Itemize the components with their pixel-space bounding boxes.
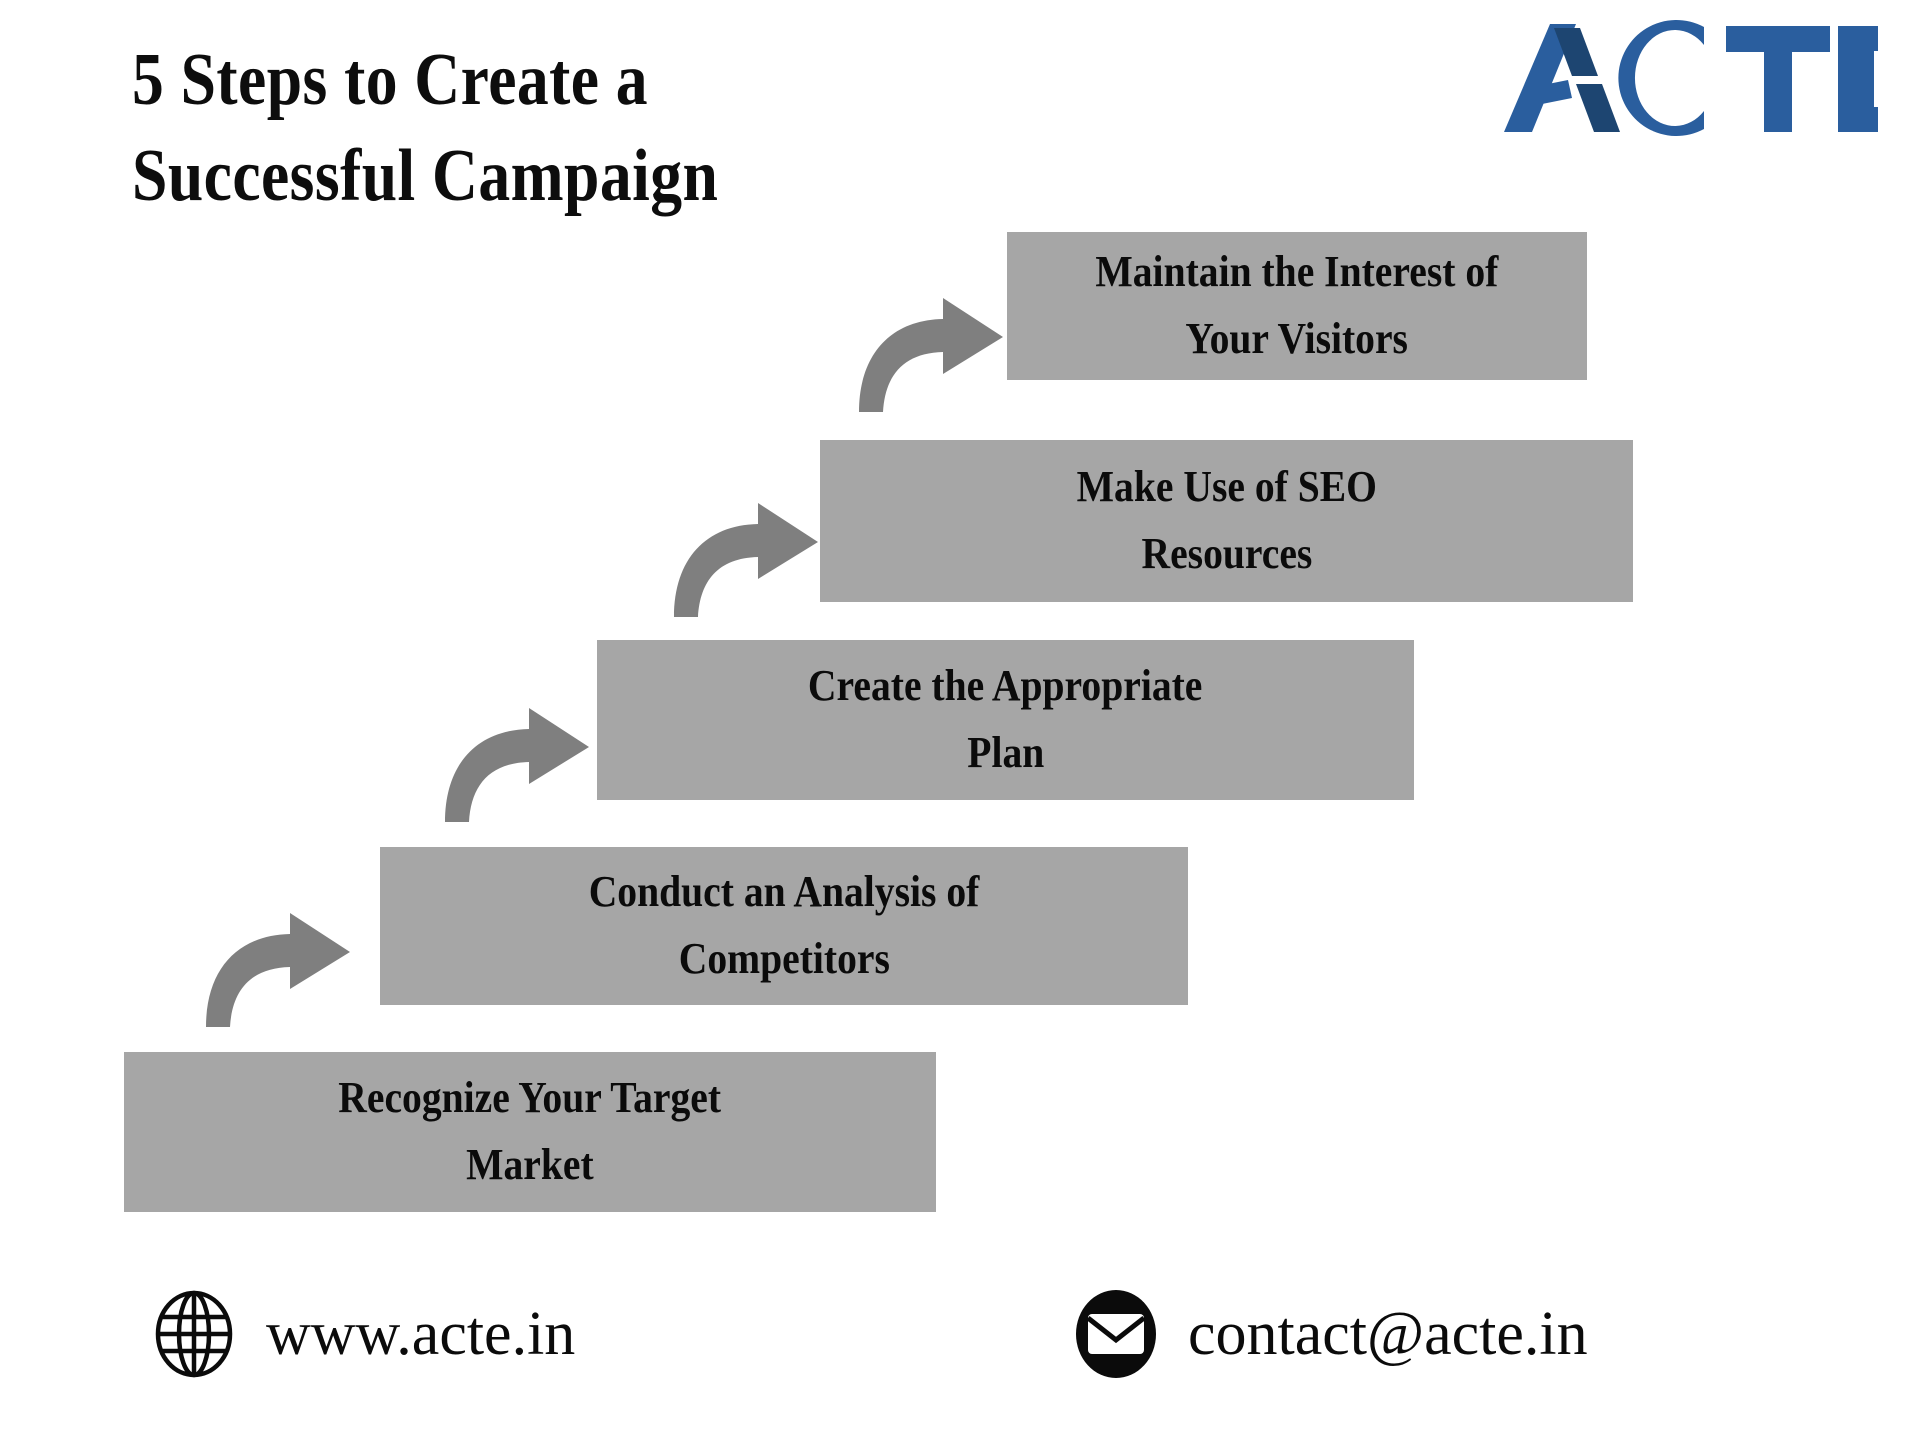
step-3-line-2: Plan: [967, 720, 1044, 787]
step-2-line-1: Conduct an Analysis of: [589, 859, 980, 926]
step-box-4: Make Use of SEO Resources: [820, 440, 1633, 602]
step-5-line-2: Your Visitors: [1186, 306, 1409, 373]
acte-logo: [1498, 14, 1878, 144]
curved-arrow-up-right-icon: [198, 905, 358, 1030]
step-2-line-2: Competitors: [678, 926, 889, 993]
infographic-canvas: 5 Steps to Create a Successful Campaign: [0, 0, 1920, 1440]
step-box-2: Conduct an Analysis of Competitors: [380, 847, 1188, 1005]
step-box-3: Create the Appropriate Plan: [597, 640, 1414, 800]
curved-arrow-up-right-icon: [666, 495, 826, 620]
curved-arrow-up-right-icon: [437, 700, 597, 825]
email-address-text: contact@acte.in: [1188, 1299, 1588, 1370]
page-title: 5 Steps to Create a Successful Campaign: [132, 32, 1032, 224]
step-4-line-1: Make Use of SEO: [1076, 454, 1376, 521]
envelope-icon: [1072, 1290, 1160, 1378]
step-4-line-2: Resources: [1141, 521, 1312, 588]
step-1-line-2: Market: [466, 1132, 594, 1199]
title-line-2: Successful Campaign: [132, 128, 906, 224]
step-5-line-1: Maintain the Interest of: [1096, 239, 1499, 306]
title-line-1: 5 Steps to Create a: [132, 32, 906, 128]
step-3-line-1: Create the Appropriate: [808, 653, 1202, 720]
step-box-5: Maintain the Interest of Your Visitors: [1007, 232, 1587, 380]
step-box-1: Recognize Your Target Market: [124, 1052, 936, 1212]
footer-website[interactable]: www.acte.in: [150, 1290, 575, 1378]
step-1-line-1: Recognize Your Target: [339, 1065, 722, 1132]
website-url-text: www.acte.in: [266, 1299, 575, 1370]
curved-arrow-up-right-icon: [851, 290, 1011, 415]
globe-icon: [150, 1290, 238, 1378]
footer-email[interactable]: contact@acte.in: [1072, 1290, 1588, 1378]
